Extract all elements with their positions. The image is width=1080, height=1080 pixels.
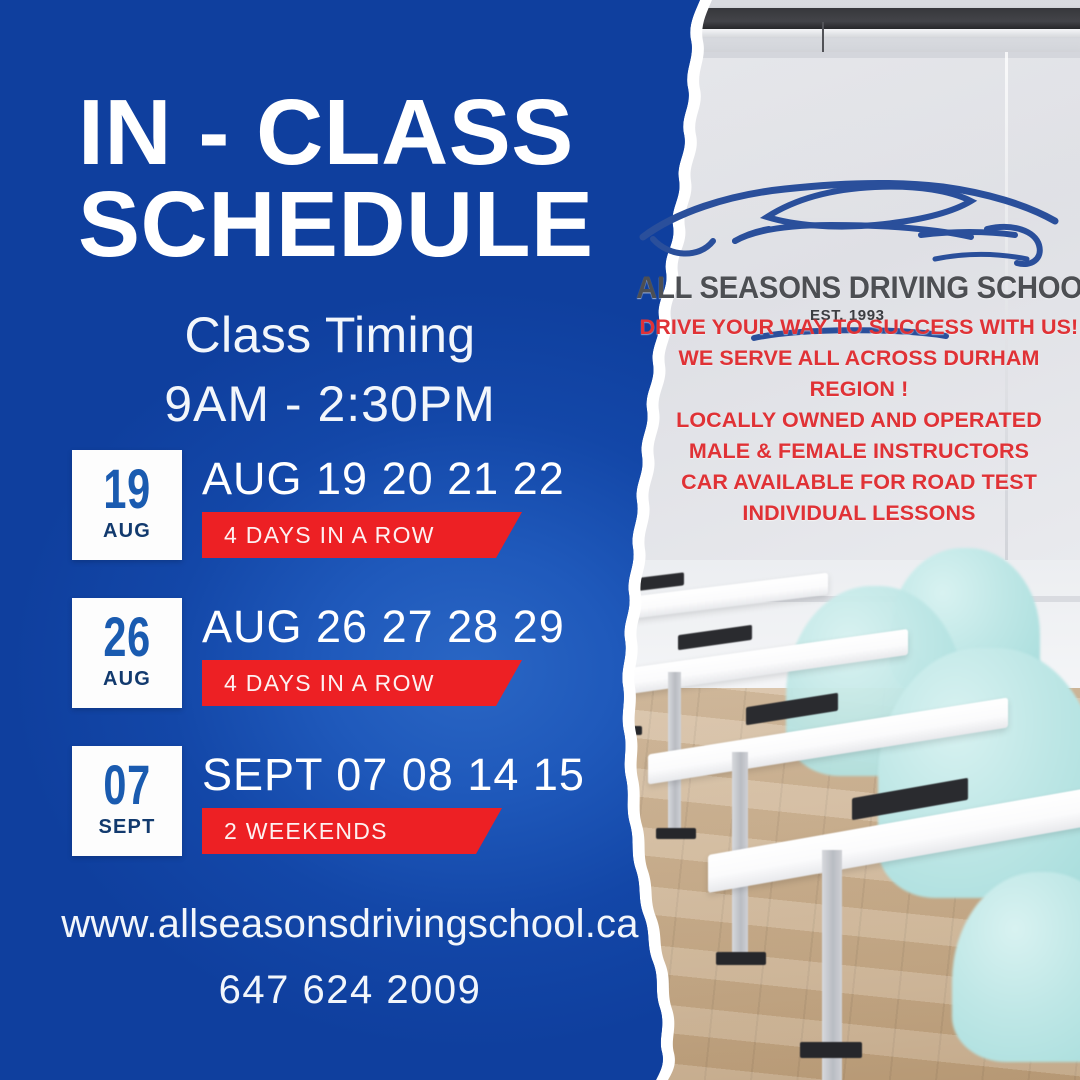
schedule-badge: 2 WEEKENDS <box>202 808 502 854</box>
date-card-day: 07 <box>103 759 151 811</box>
pendant-light-icon <box>676 8 1080 30</box>
page-title: IN - CLASS SCHEDULE <box>78 86 638 270</box>
schedule-badge-label: 4 DAYS IN A ROW <box>224 522 435 549</box>
phone-number[interactable]: 647 624 2009 <box>0 968 700 1013</box>
schedule-row[interactable]: 07 SEPT SEPT 07 08 14 15 2 WEEKENDS <box>72 746 672 856</box>
promo-line: INDIVIDUAL LESSONS <box>636 498 1080 529</box>
promo-line: REGION ! <box>636 374 1080 405</box>
schedule-row-main: AUG 26 27 28 29 4 DAYS IN A ROW <box>202 598 672 708</box>
date-card-month: SEPT <box>98 816 155 839</box>
promo-line: MALE & FEMALE INSTRUCTORS <box>636 436 1080 467</box>
subtitle: Class Timing <box>0 306 660 364</box>
promo-line: WE SERVE ALL ACROSS DURHAM <box>636 343 1080 374</box>
brand-name: ALL SEASONS DRIVING SCHOOL INC. <box>636 269 1064 306</box>
schedule-row[interactable]: 19 AUG AUG 19 20 21 22 4 DAYS IN A ROW <box>72 450 672 560</box>
car-silhouette-icon <box>635 155 1065 275</box>
schedule-dates: AUG 19 20 21 22 <box>202 450 672 501</box>
schedule-badge-label: 2 WEEKENDS <box>224 818 388 845</box>
desk-foot <box>800 1042 862 1058</box>
classroom-chair <box>878 648 1080 898</box>
schedule-row-main: AUG 19 20 21 22 4 DAYS IN A ROW <box>202 450 672 560</box>
date-card-month: AUG <box>103 520 151 543</box>
promo-line: DRIVE YOUR WAY TO SUCCESS WITH US! <box>636 312 1080 343</box>
date-card: 26 AUG <box>72 598 182 708</box>
title-line-2: SCHEDULE <box>78 178 638 270</box>
left-content: IN - CLASS SCHEDULE Class Timing 9AM - 2… <box>0 0 700 1080</box>
schedule-badge: 4 DAYS IN A ROW <box>202 660 522 706</box>
date-card: 07 SEPT <box>72 746 182 856</box>
title-line-1: IN - CLASS <box>78 86 638 178</box>
website-url[interactable]: www.allseasonsdrivingschool.ca <box>0 902 700 947</box>
schedule-badge-label: 4 DAYS IN A ROW <box>224 670 435 697</box>
poster-canvas: ALL SEASONS DRIVING SCHOOL INC. EST. 199… <box>0 0 1080 1080</box>
date-card-day: 26 <box>103 611 151 663</box>
schedule-badge: 4 DAYS IN A ROW <box>202 512 522 558</box>
schedule-row-main: SEPT 07 08 14 15 2 WEEKENDS <box>202 746 672 856</box>
schedule-dates: SEPT 07 08 14 15 <box>202 746 672 797</box>
class-timing: 9AM - 2:30PM <box>0 375 660 433</box>
date-card-day: 19 <box>103 463 151 515</box>
schedule-dates: AUG 26 27 28 29 <box>202 598 672 649</box>
schedule-row[interactable]: 26 AUG AUG 26 27 28 29 4 DAYS IN A ROW <box>72 598 672 708</box>
promo-text-block: DRIVE YOUR WAY TO SUCCESS WITH US! WE SE… <box>636 312 1080 529</box>
date-card-month: AUG <box>103 668 151 691</box>
promo-line: CAR AVAILABLE FOR ROAD TEST <box>636 467 1080 498</box>
schedule-list: 19 AUG AUG 19 20 21 22 4 DAYS IN A ROW 2… <box>72 450 672 894</box>
promo-line: LOCALLY OWNED AND OPERATED <box>636 405 1080 436</box>
desk-foot <box>716 952 766 965</box>
date-card: 19 AUG <box>72 450 182 560</box>
